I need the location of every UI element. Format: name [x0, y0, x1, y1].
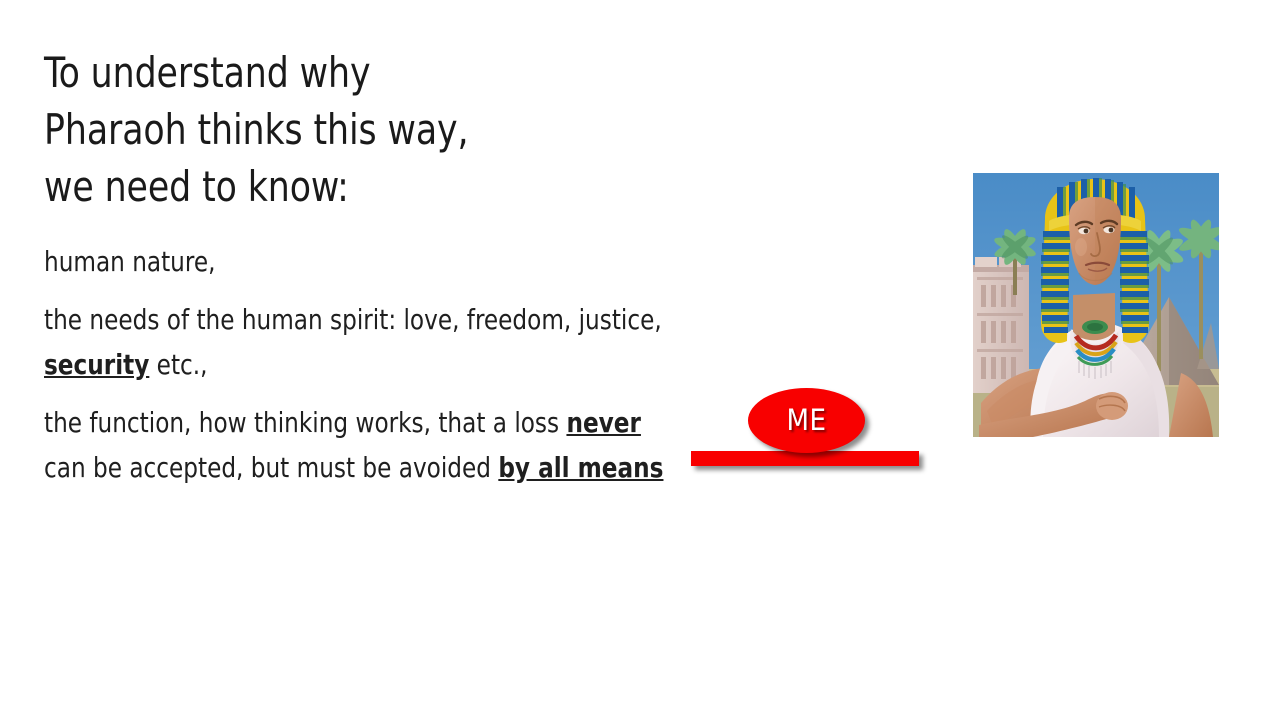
text-column: To understand why Pharaoh thinks this wa… [44, 44, 684, 503]
text-run: the function, how thinking works, that a… [44, 406, 566, 439]
text-run: etc., [149, 348, 207, 381]
slide-canvas: To understand why Pharaoh thinks this wa… [0, 0, 1280, 720]
body-paragraph-human-nature: human nature, [44, 239, 688, 284]
emphasis-never: never [566, 406, 640, 439]
body-paragraph-function-of-thinking: the function, how thinking works, that a… [44, 400, 688, 490]
me-label: ME [787, 406, 827, 435]
body-text-block: human nature, the needs of the human spi… [44, 239, 684, 490]
me-callout-group: ME [688, 384, 928, 474]
red-underline-bar [691, 451, 919, 466]
pharaoh-image [973, 173, 1219, 437]
me-ellipse-shape[interactable]: ME [748, 388, 865, 453]
body-paragraph-needs-of-spirit: the needs of the human spirit: love, fre… [44, 297, 688, 387]
text-run: can be accepted, but must be avoided [44, 451, 498, 484]
emphasis-security: security [44, 348, 149, 381]
text-run: the needs of the human spirit: love, fre… [44, 303, 662, 336]
emphasis-by-all-means: by all means [498, 451, 663, 484]
page-title: To understand why Pharaoh thinks this wa… [44, 44, 504, 215]
pharaoh-illustration [973, 173, 1219, 437]
text-run: human nature, [44, 245, 215, 278]
